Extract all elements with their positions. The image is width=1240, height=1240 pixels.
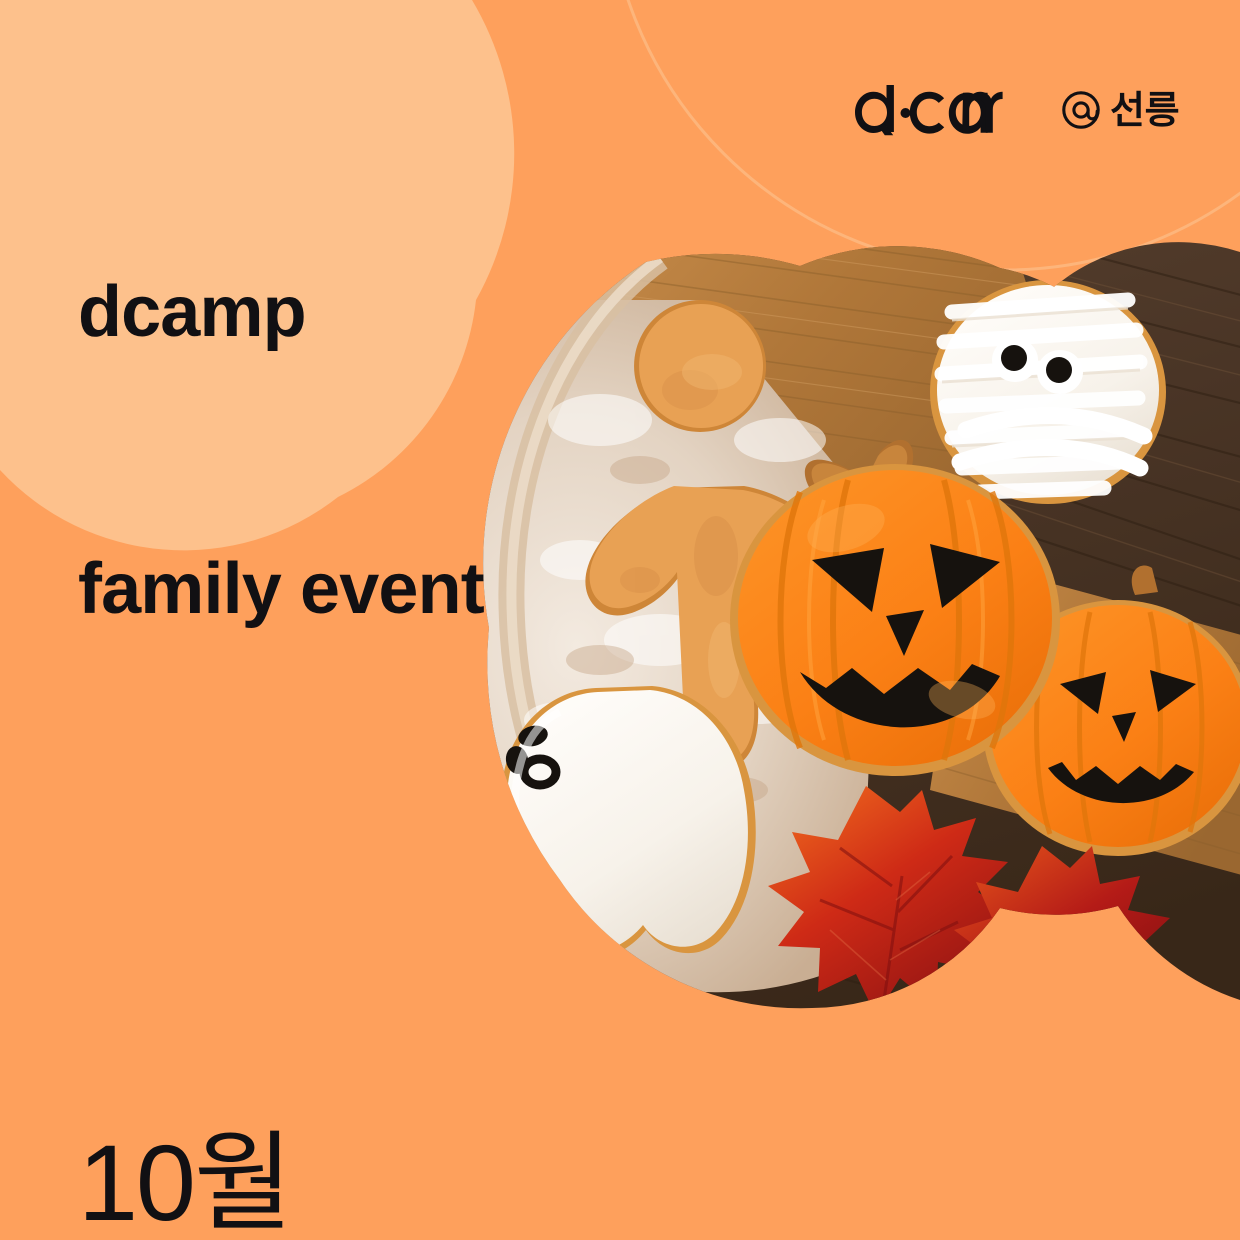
date-month: 10월 [78, 1108, 467, 1240]
event-poster: dcamp family event 10월 월간런치 [0, 0, 1240, 1240]
mummy-cookie [930, 280, 1166, 504]
venue-name: 선릉 [1110, 92, 1179, 130]
at-sign-icon [1061, 90, 1101, 130]
dcamp-logo-icon [855, 84, 1031, 136]
headline-line-2: family event [78, 543, 484, 635]
headline: dcamp family event [78, 82, 484, 819]
headline-line-1: dcamp [78, 266, 484, 358]
logo-lockup[interactable]: 선릉 [855, 84, 1179, 136]
venue-lockup: 선릉 [1061, 90, 1179, 130]
date-title-block: 10월 월간런치 [78, 810, 467, 1240]
ghost-cookie [501, 686, 756, 959]
